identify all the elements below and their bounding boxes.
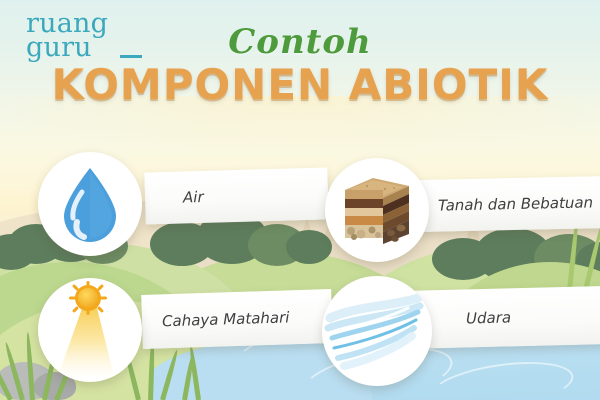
eyebrow-title: Contoh [0, 22, 600, 62]
item-air-banner: Air [144, 167, 328, 224]
sun-rays-icon [38, 278, 142, 382]
soil-layers-icon [339, 174, 415, 246]
item-udara-circle[interactable] [322, 276, 432, 386]
infographic-canvas: ruang guru Contoh KOMPONEN ABIOTIK Air T… [0, 0, 600, 400]
item-udara-banner: Udara [407, 285, 600, 349]
item-cahaya-banner: Cahaya Matahari [141, 289, 333, 349]
water-droplet-icon [60, 166, 120, 242]
tree-clump-icon [286, 230, 332, 264]
item-cahaya-circle[interactable] [38, 278, 142, 382]
item-udara-label: Udara [466, 308, 511, 327]
item-tanah-label: Tanah dan Bebatuan [438, 193, 593, 214]
item-air-label: Air [183, 188, 204, 207]
page-title: KOMPONEN ABIOTIK [0, 60, 600, 109]
item-tanah-circle[interactable] [325, 158, 429, 262]
item-air-circle[interactable] [38, 152, 142, 256]
item-tanah-banner: Tanah dan Bebatuan [419, 176, 600, 232]
wind-swirl-icon [322, 276, 432, 386]
item-cahaya-label: Cahaya Matahari [162, 308, 290, 330]
